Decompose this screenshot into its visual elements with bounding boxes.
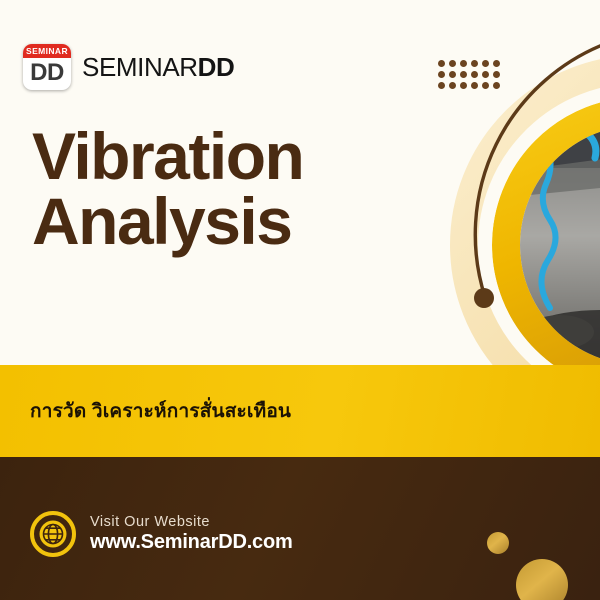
arc-end-dot bbox=[474, 288, 494, 308]
thai-subtitle: การวัด วิเคราะห์การสั่นสะเทือน bbox=[30, 396, 291, 426]
wordmark-seminar: SEMINAR bbox=[82, 52, 198, 82]
badge-cap-label: SEMINAR bbox=[23, 44, 71, 58]
page-title: Vibration Analysis bbox=[32, 124, 303, 253]
poster-canvas: SEMINAR DD SEMINARDD Vibration Analysis … bbox=[0, 0, 600, 600]
website-text-block: Visit Our Website www.SeminarDD.com bbox=[90, 514, 293, 555]
wordmark-dd: DD bbox=[198, 52, 235, 82]
globe-icon bbox=[30, 511, 76, 557]
seminardd-badge-icon: SEMINAR DD bbox=[23, 44, 71, 90]
footer-circle-small bbox=[487, 532, 509, 554]
visit-label: Visit Our Website bbox=[90, 514, 293, 531]
website-callout[interactable]: Visit Our Website www.SeminarDD.com bbox=[30, 511, 293, 557]
website-url[interactable]: www.SeminarDD.com bbox=[90, 531, 293, 555]
footer-circle-large bbox=[516, 559, 568, 600]
photo-circle bbox=[500, 110, 600, 390]
brand-logo[interactable]: SEMINAR DD SEMINARDD bbox=[23, 44, 234, 90]
badge-initials-label: DD bbox=[23, 58, 71, 90]
dot-grid-decoration bbox=[438, 60, 504, 93]
brand-wordmark: SEMINARDD bbox=[82, 52, 234, 83]
